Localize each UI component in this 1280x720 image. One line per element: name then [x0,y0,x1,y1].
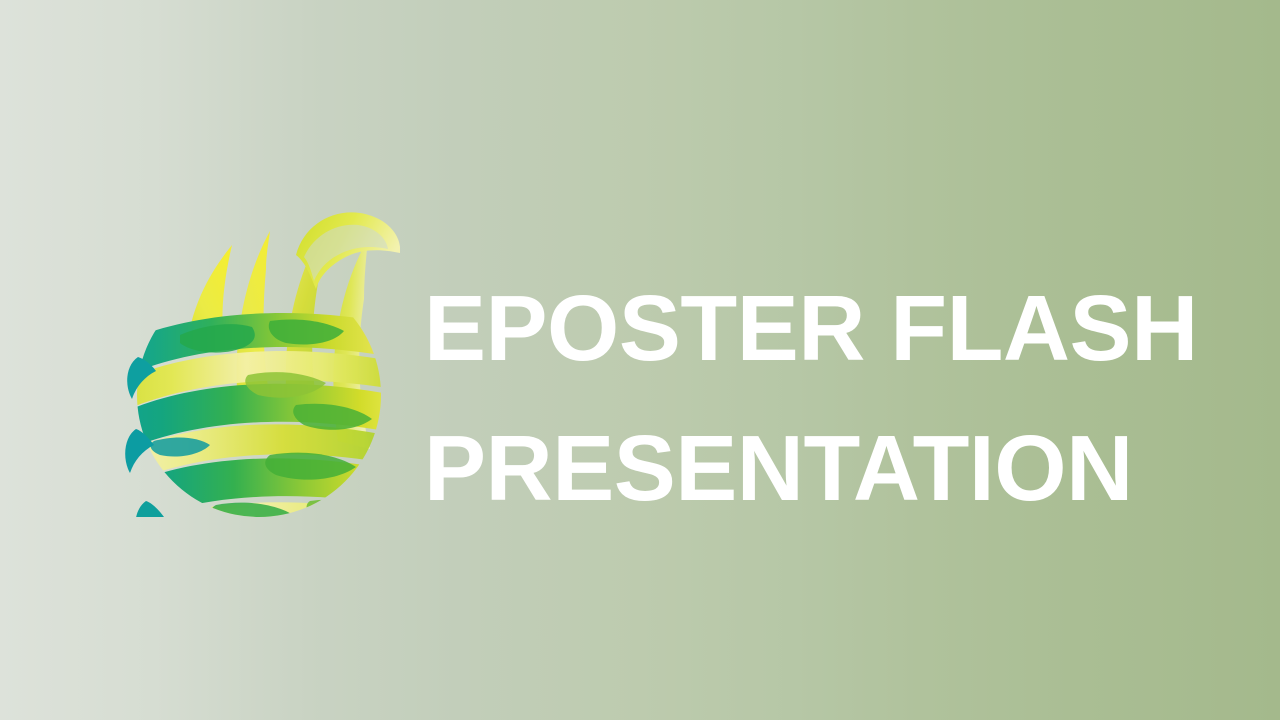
title-line-1: EPOSTER FLASH [424,258,1224,398]
logo-leaf-hook [296,212,400,289]
title-slide: EPOSTER FLASH PRESENTATION [0,0,1280,720]
striped-globe-logo [120,205,400,517]
title-line-2: PRESENTATION [424,398,1224,538]
page-title: EPOSTER FLASH PRESENTATION [424,258,1224,538]
logo [120,205,400,517]
logo-globe-bands [120,313,400,517]
